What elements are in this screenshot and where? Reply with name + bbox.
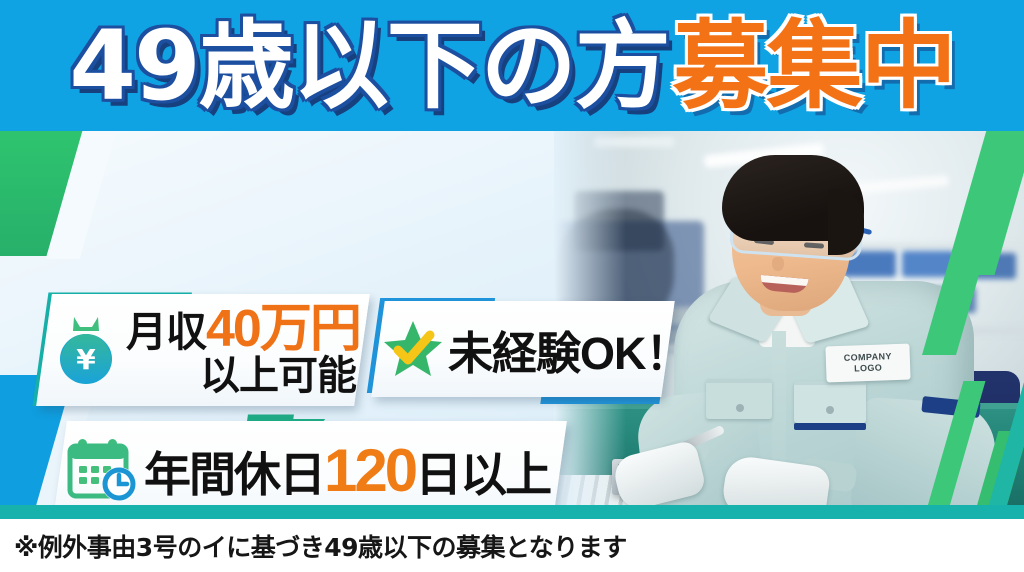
- footer-disclaimer-text: ※例外事由3号のイに基づき49歳以下の募集となります: [0, 528, 627, 564]
- badge-no-experience-text: 未経験OK！: [448, 317, 690, 382]
- star-check-icon: [382, 318, 444, 380]
- badge-salary-prefix: 月収: [126, 309, 206, 355]
- badge-holidays-number: 120: [324, 437, 415, 504]
- header-main-text: 49歳以下の方: [69, 18, 669, 114]
- footer-teal-strip: [0, 505, 1024, 519]
- badge-holidays-prefix: 年間休日: [144, 448, 324, 501]
- banner-body: COMPANY LOGO: [0, 131, 1024, 521]
- header-accent-text: 募集中: [673, 18, 955, 114]
- uniform-badge-line2: LOGO: [854, 363, 882, 375]
- uniform-company-logo-badge: COMPANY LOGO: [825, 344, 910, 383]
- badge-salary-number: 40万円: [206, 300, 360, 358]
- uniform-badge-line1: COMPANY: [844, 351, 893, 364]
- badge-no-experience: 未経験OK！: [371, 301, 674, 397]
- calendar-clock-icon: [64, 435, 142, 505]
- footer-disclaimer-bar: ※例外事由3号のイに基づき49歳以下の募集となります: [0, 519, 1024, 572]
- svg-text:¥: ¥: [76, 343, 96, 376]
- badge-salary: ¥ 月収40万円 以上可能: [36, 294, 370, 406]
- banner-header: 49歳以下の方 募集中: [0, 0, 1024, 131]
- recruitment-banner: 49歳以下の方 募集中: [0, 0, 1024, 572]
- badge-salary-line2: 以上可能: [126, 355, 362, 397]
- badge-holidays-suffix: 日以上: [415, 448, 550, 501]
- money-bag-icon: ¥: [50, 311, 122, 389]
